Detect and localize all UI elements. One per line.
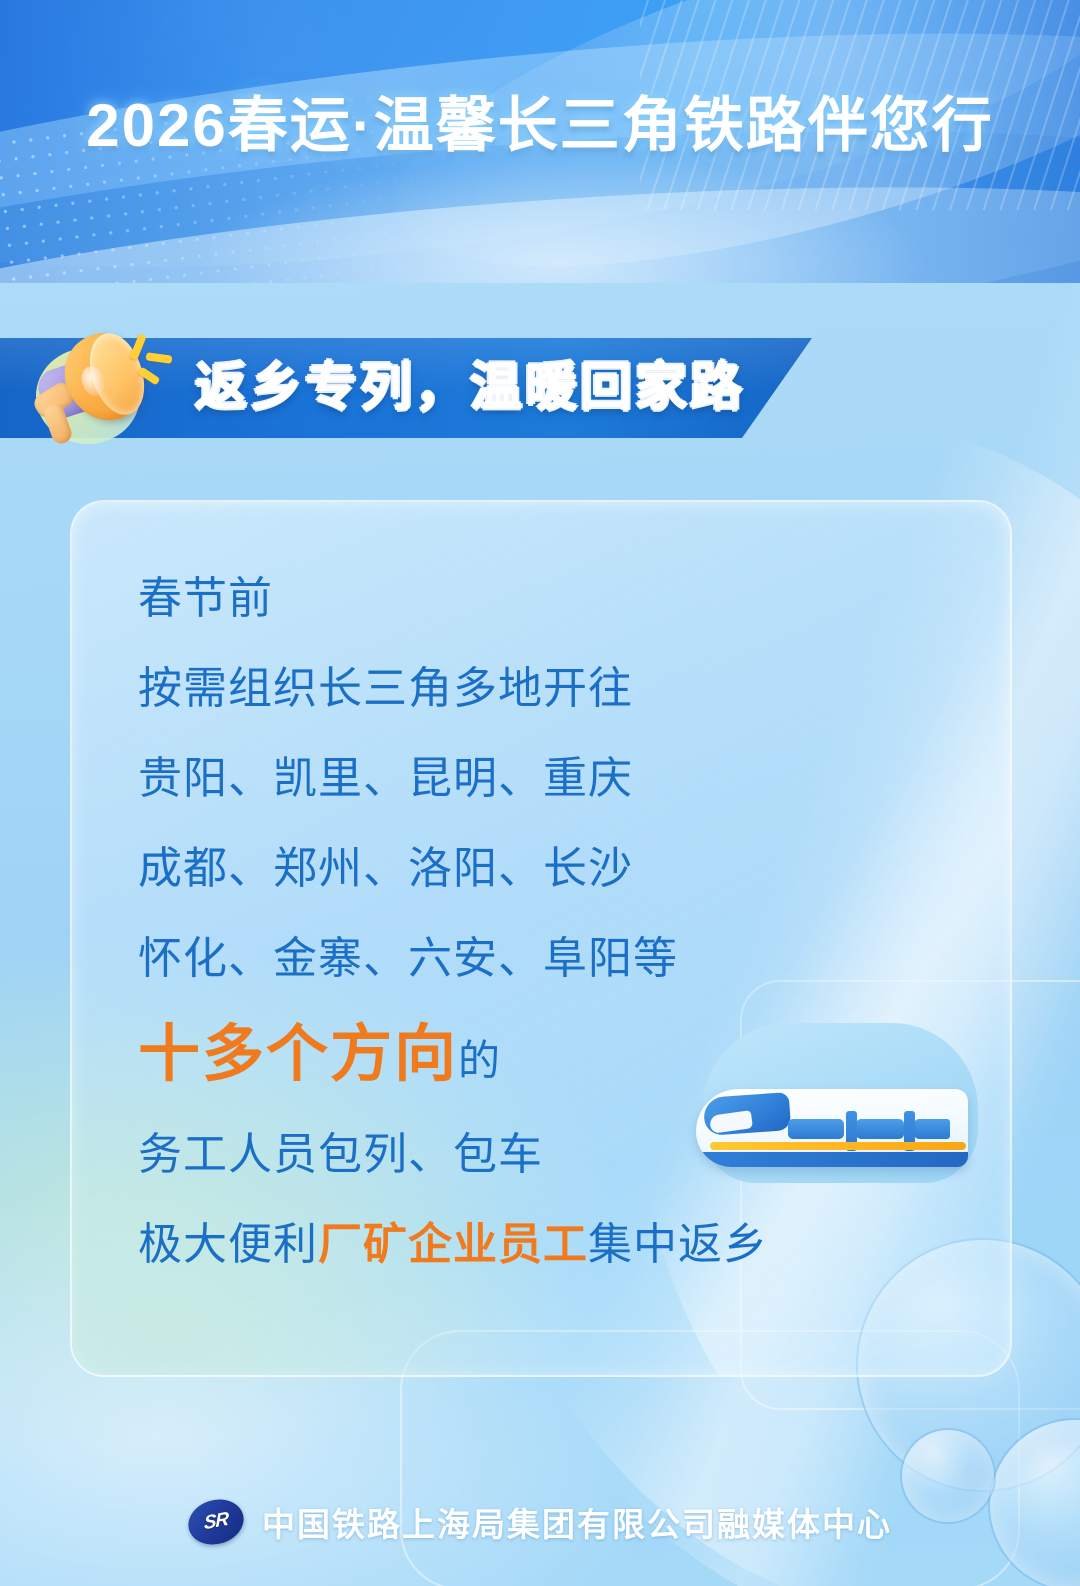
line-8-suffix: 集中返乡 <box>588 1220 768 1269</box>
content-line-5: 怀化、金寨、六安、阜阳等 <box>138 936 970 981</box>
highlight-directions-suffix: 的 <box>458 1037 501 1084</box>
train-window-strip-3 <box>914 1119 950 1139</box>
content-line-4: 成都、郑州、洛阳、长沙 <box>138 846 970 891</box>
train-blue-skirt <box>702 1152 968 1167</box>
header-glow <box>180 150 940 283</box>
high-speed-train-icon <box>690 1005 990 1200</box>
train-body <box>696 1089 968 1167</box>
line-8-prefix: 极大便利 <box>138 1220 318 1269</box>
header-wave-4 <box>0 141 1080 283</box>
content-line-2: 按需组织长三角多地开往 <box>138 666 970 711</box>
megaphone-icon <box>22 326 164 452</box>
china-railway-logo-icon: SR <box>188 1500 244 1544</box>
megaphone-sound-line-1 <box>129 333 146 360</box>
content-card: 春节前 按需组织长三角多地开往 贵阳、凯里、昆明、重庆 成都、郑州、洛阳、长沙 … <box>70 500 1012 1377</box>
section-banner-title: 返乡专列，温暖回家路 <box>195 358 745 418</box>
page-title: 2026春运·温馨长三角铁路伴您行 <box>0 96 1080 156</box>
train-window-strip-1 <box>788 1119 844 1139</box>
train-yellow-stripe <box>710 1142 966 1150</box>
content-line-3: 贵阳、凯里、昆明、重庆 <box>138 756 970 801</box>
poster-footer: SR 中国铁路上海局集团有限公司融媒体中心 <box>0 1480 1080 1564</box>
content-line-8: 极大便利厂矿企业员工集中返乡 <box>138 1222 970 1267</box>
footer-organization-name: 中国铁路上海局集团有限公司融媒体中心 <box>262 1498 892 1546</box>
highlight-enterprise-workers: 厂矿企业员工 <box>318 1220 588 1269</box>
content-line-1: 春节前 <box>138 576 970 621</box>
train-window-strip-2 <box>856 1119 904 1139</box>
poster-root: 2026春运·温馨长三角铁路伴您行 返乡专列，温暖回家路 春节前 按需组织长三角… <box>0 0 1080 1586</box>
logo-sr-text: SR <box>188 1495 243 1549</box>
highlight-directions: 十多个方向 <box>138 1020 458 1089</box>
